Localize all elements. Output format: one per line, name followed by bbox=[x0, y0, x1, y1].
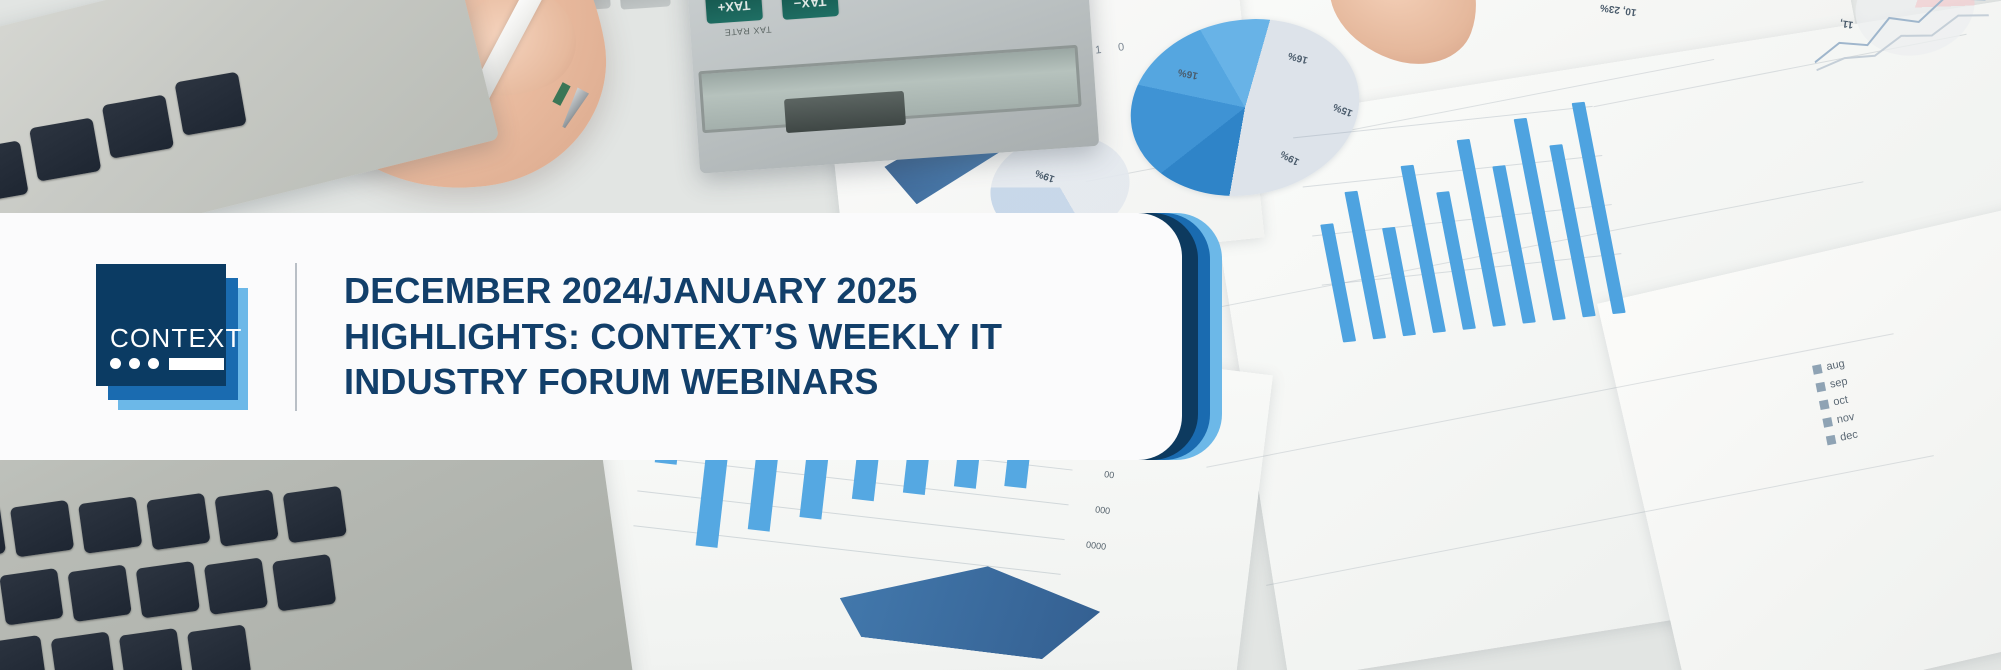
legend-item: dec bbox=[1825, 428, 1859, 446]
card-content: CONTEXT DECEMBER 2024/JANUARY 2025 HIGHL… bbox=[40, 213, 1222, 460]
legend-swatch bbox=[1822, 417, 1833, 428]
title-line-2: HIGHLIGHTS: CONTEXT’S WEEKLY IT bbox=[344, 314, 1002, 360]
legend-label: aug bbox=[1825, 358, 1845, 373]
legend-label: sep bbox=[1829, 376, 1849, 391]
title-line-1: DECEMBER 2024/JANUARY 2025 bbox=[344, 268, 1002, 314]
legend-item: nov bbox=[1822, 411, 1856, 429]
bar-value-label: 0000 bbox=[1086, 540, 1107, 552]
logo-marks bbox=[110, 358, 226, 370]
legend-swatch bbox=[1826, 434, 1837, 445]
logo-dot-icon bbox=[129, 358, 140, 369]
bar-chart-right bbox=[1287, 76, 1632, 343]
page-title: DECEMBER 2024/JANUARY 2025 HIGHLIGHTS: C… bbox=[344, 268, 1002, 405]
logo-wordmark: CONTEXT bbox=[110, 325, 226, 351]
title-line-3: INDUSTRY FORUM WEBINARS bbox=[344, 359, 1002, 405]
legend-swatch bbox=[1819, 399, 1830, 410]
legend-item: oct bbox=[1819, 393, 1853, 411]
bar-value-label: 000 bbox=[1095, 504, 1111, 516]
vertical-divider bbox=[295, 263, 297, 411]
calculator-tax-plus-button: TAX+ bbox=[705, 0, 763, 24]
logo-dot-icon bbox=[110, 358, 121, 369]
legend-item: sep bbox=[1815, 375, 1849, 393]
legend-label: oct bbox=[1832, 394, 1849, 409]
legend-label: dec bbox=[1839, 429, 1859, 444]
context-logo[interactable]: CONTEXT bbox=[96, 264, 248, 410]
legend-swatch bbox=[1812, 364, 1823, 375]
legend-label: nov bbox=[1836, 411, 1856, 426]
logo-dot-icon bbox=[148, 358, 159, 369]
logo-bar-icon bbox=[169, 358, 224, 370]
bar-value-label: 00 bbox=[1104, 469, 1115, 480]
logo-tile: CONTEXT bbox=[96, 264, 226, 386]
banner-root: 16% 16% 15% 19% 19% 10, 23% 11, aug sep bbox=[0, 0, 2001, 670]
legend-swatch bbox=[1815, 381, 1826, 392]
